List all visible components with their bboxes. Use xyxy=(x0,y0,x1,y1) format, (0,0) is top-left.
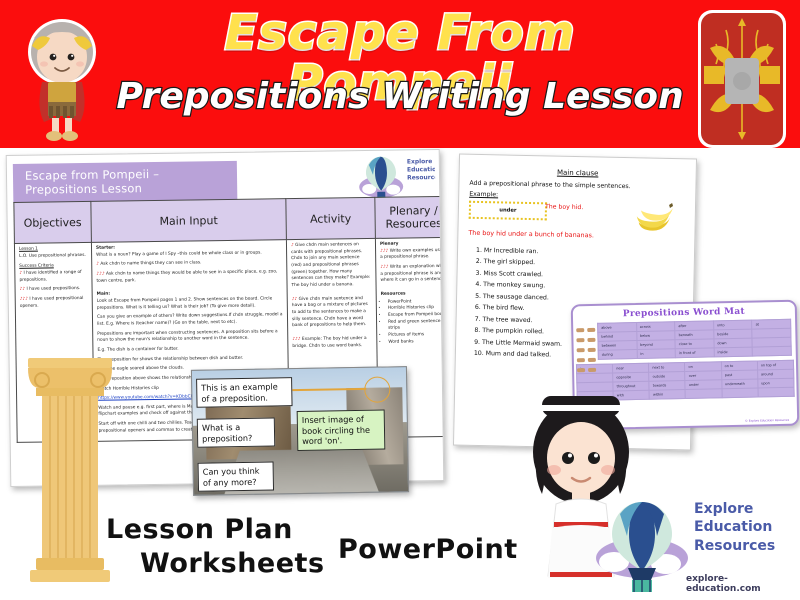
brand-url: explore-education.com xyxy=(686,574,798,594)
starter-line: ♪ Ask chdn to name things they can see i… xyxy=(96,260,282,269)
table-header-row: Objectives Main Input Activity Plenary /… xyxy=(14,196,444,243)
preposition-cell xyxy=(753,346,792,356)
label-lesson-plan: Lesson Plan xyxy=(106,514,293,545)
chilli-marker: ♪♪♪ xyxy=(292,337,300,342)
brand-text: Explore Education Resources xyxy=(694,500,775,555)
column-header-main-input: Main Input xyxy=(91,199,287,243)
worksheet-instruction: Add a prepositional phrase to the simple… xyxy=(469,180,695,192)
main-clause-text: The boy hid. xyxy=(545,203,583,211)
hot-air-balloon-icon xyxy=(592,496,692,596)
word-mat-footer: © Explore Education Resources xyxy=(745,418,789,423)
word-mat-table-top: above across after onto at behind below … xyxy=(597,319,792,360)
powerpoint-slide[interactable]: This is an example of a preposition. Wha… xyxy=(191,366,409,496)
chilli-marker: ♪ xyxy=(291,243,294,248)
preposition-cell: in xyxy=(637,349,676,359)
dog-illustrations-icon xyxy=(575,324,600,384)
chilli-marker: ♪♪♪ xyxy=(20,297,28,302)
resources-heading: Resources xyxy=(381,291,445,299)
success-criterion: ♪ I have identified a range of prepositi… xyxy=(19,270,87,284)
roman-column-decoration xyxy=(24,358,116,584)
criterion-text: I have used prepositions. xyxy=(26,286,80,292)
starter-line: ♪♪♪ Ask chdn to name things they would b… xyxy=(96,269,282,285)
preposition-cell: within xyxy=(649,389,685,399)
main-line: The preposition for shows the relationsh… xyxy=(98,355,284,364)
chilli-marker: ♪♪ xyxy=(292,297,298,302)
criterion-text: I have used prepositional openers. xyxy=(20,296,84,309)
header-banner: Escape From Pompeii Prepositions Writing… xyxy=(0,0,800,148)
plenary-item: ♪♪♪ Write own examples using a prepositi… xyxy=(380,248,444,262)
main-line: Prepositions are important when construc… xyxy=(97,329,283,345)
starter-line: What is a noun? Play a game of I Spy –th… xyxy=(96,250,282,259)
lesson-plan-title: Escape from Pompeii – Prepositions Lesso… xyxy=(13,161,238,203)
chilli-marker: ♪ xyxy=(19,271,22,276)
column-header-objectives: Objectives xyxy=(14,201,92,243)
brand-line-3: Resources xyxy=(694,537,775,555)
callout-insert-note: Insert image of book circling the word '… xyxy=(297,410,386,451)
column-header-activity: Activity xyxy=(286,197,376,239)
main-line: E.g. The dish is a container for butter. xyxy=(97,345,283,354)
success-criterion: ♪♪ I have used prepositions. xyxy=(20,286,88,294)
roman-boy-character xyxy=(14,12,110,144)
main-line: Look at Escape from Pompeii pages 1 and … xyxy=(97,296,283,312)
brand-line-1: Explore xyxy=(694,500,775,518)
preposition-cell xyxy=(685,389,721,399)
chilli-marker: ♪♪ xyxy=(20,287,26,292)
svg-text:Resources: Resources xyxy=(407,174,435,181)
callout-example: This is an example of a preposition. xyxy=(196,377,292,408)
preposition-cell: during xyxy=(598,350,637,360)
label-worksheets: Worksheets xyxy=(140,548,325,579)
brand-line-2: Education xyxy=(694,518,775,536)
activity-item: ♪♪ Give chdn main sentence and have a ba… xyxy=(292,296,372,330)
preposition-box: under xyxy=(469,201,547,221)
callout-question: What is a preposition? xyxy=(197,417,275,448)
chilli-marker: ♪♪♪ xyxy=(380,265,388,270)
column-header-plenary: Plenary / Resources xyxy=(375,196,444,238)
activity-item: ♪ Give chdn main sentences on cards with… xyxy=(291,242,372,290)
preposition-cell: inside xyxy=(714,347,753,357)
success-criterion: ♪♪♪ I have used prepositional openers. xyxy=(20,296,88,310)
preposition-cell xyxy=(722,388,758,398)
banana-icon xyxy=(634,202,673,233)
list-item: Red and green sentence strips xyxy=(388,318,444,332)
objectives-lo: L.O. Use prepositional phrases. xyxy=(19,253,87,261)
svg-text:Explore: Explore xyxy=(407,158,433,165)
worksheet-heading: Main clause xyxy=(460,167,696,180)
activity-item: ♪♪♪ Example: The boy hid under a bridge.… xyxy=(292,336,372,350)
resources-list: PowerPoint Horrible Histories clip Escap… xyxy=(381,298,445,346)
svg-text:Education: Education xyxy=(407,166,436,173)
callout-more: Can you think of any more? xyxy=(198,461,274,492)
label-powerpoint: PowerPoint xyxy=(338,534,518,565)
chilli-marker: ♪♪♪ xyxy=(380,248,388,253)
page-subtitle: Prepositions Writing Lesson xyxy=(100,78,700,116)
poster-canvas: Escape From Pompeii Prepositions Writing… xyxy=(0,0,800,600)
preposition-cell: in front of xyxy=(675,348,714,358)
roman-shield-icon xyxy=(690,4,794,148)
word-mat-title: Prepositions Word Mat xyxy=(573,306,795,321)
criterion-text: I have identified a range of preposition… xyxy=(19,270,81,283)
plenary-item: ♪♪♪ Write an explanation what a preposit… xyxy=(380,264,444,285)
list-item: Word banks xyxy=(388,338,444,346)
main-line: Can you give an example of others? Write… xyxy=(97,312,283,328)
brand-logo: Explore Education Resources explore-educ… xyxy=(592,496,798,596)
preposition-cell xyxy=(758,387,794,397)
